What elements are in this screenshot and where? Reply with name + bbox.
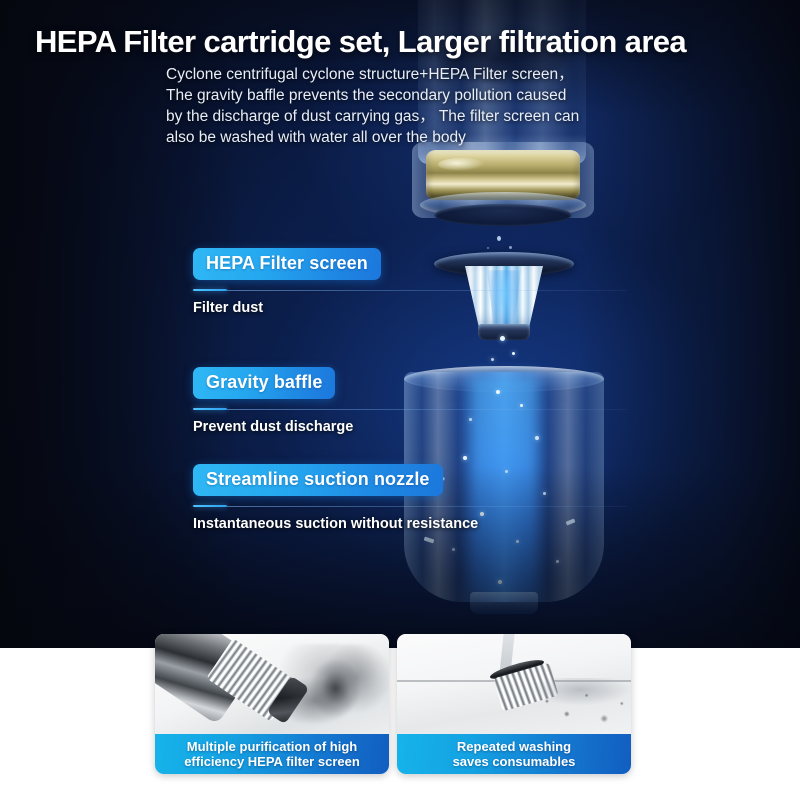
callout-subtext: Instantaneous suction without resistance [193,516,663,532]
cyclone-assembly-graphic [412,142,594,230]
caption-line-1: Multiple purification of high [179,739,365,754]
water-splash-graphic [525,678,631,734]
particle-icon [516,540,519,543]
leader-thin-line [227,409,627,410]
particle-icon [512,352,515,355]
leader-accent-segment [193,289,227,291]
droplet-icon [497,236,501,241]
panel-hepa-purification[interactable]: Multiple purification of high efficiency… [155,634,389,774]
callout-leader-line [193,408,663,410]
particle-icon [491,358,494,361]
feature-panels: Multiple purification of high efficiency… [0,634,800,800]
suction-nozzle-graphic [470,592,538,614]
callout-streamline-suction-nozzle: Streamline suction nozzle Instantaneous … [193,464,663,532]
subtitle-line: The gravity baffle prevents the secondar… [166,85,686,106]
cyclone-base-graphic [434,204,572,226]
particle-icon [556,560,559,563]
callout-badge: Streamline suction nozzle [193,464,443,496]
product-infographic: HEPA Filter cartridge set, Larger filtra… [0,0,800,800]
callout-leader-line [193,505,663,507]
panel-caption: Repeated washing saves consumables [397,734,631,774]
callout-badge: Gravity baffle [193,367,335,399]
caption-line-2: efficiency HEPA filter screen [176,754,368,769]
particle-icon [452,548,455,551]
subtitle-line: by the discharge of dust carrying gas， T… [166,106,686,127]
hero-section: HEPA Filter cartridge set, Larger filtra… [0,0,800,648]
caption-text: Multiple purification of high efficiency… [168,739,376,769]
subtitle-line: also be washed with water all over the b… [166,127,686,148]
callout-gravity-baffle: Gravity baffle Prevent dust discharge [193,367,663,435]
panel-photo-water-wash [397,634,631,734]
panel-photo-filter-dust [155,634,389,734]
callout-subtext: Filter dust [193,300,663,316]
leader-thin-line [227,506,627,507]
callout-leader-line [193,289,663,291]
dust-cloud-graphic [273,644,389,734]
leader-accent-segment [193,505,227,507]
page-title: HEPA Filter cartridge set, Larger filtra… [35,24,775,60]
particle-icon [498,580,502,584]
particle-icon [535,436,539,440]
subtitle-line: Cyclone centrifugal cyclone structure+HE… [166,64,686,85]
leader-accent-segment [193,408,227,410]
page-subtitle: Cyclone centrifugal cyclone structure+HE… [166,64,686,148]
particle-icon [500,336,505,341]
callout-hepa-filter-screen: HEPA Filter screen Filter dust [193,248,663,316]
caption-text: Repeated washing saves consumables [437,739,592,769]
caption-line-1: Repeated washing [449,739,579,754]
panel-caption: Multiple purification of high efficiency… [155,734,389,774]
callout-badge: HEPA Filter screen [193,248,381,280]
particle-icon [463,456,467,460]
callout-subtext: Prevent dust discharge [193,419,663,435]
panel-repeated-washing[interactable]: Repeated washing saves consumables [397,634,631,774]
leader-thin-line [227,290,627,291]
caption-line-2: saves consumables [445,754,584,769]
